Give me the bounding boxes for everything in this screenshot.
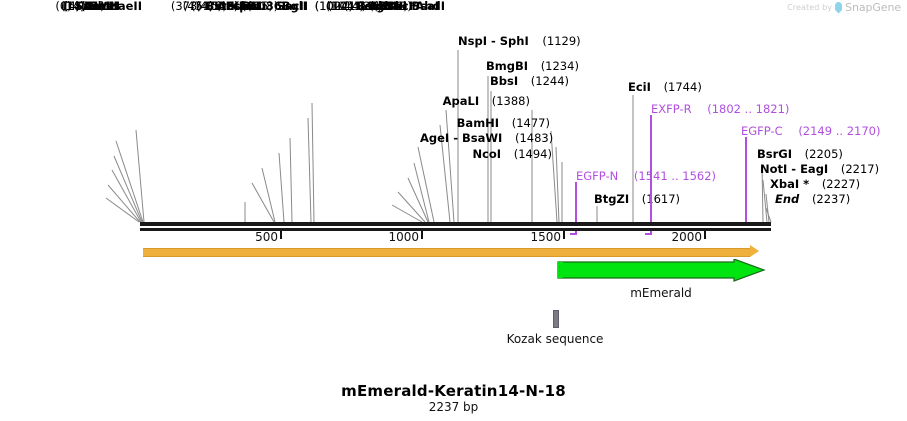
primer-name: EGFP-N: [576, 169, 618, 183]
plasmid-length: 2237 bp: [0, 400, 907, 414]
site-position: (2217): [841, 162, 879, 176]
ruler-tick-2000: [704, 231, 706, 239]
site-label-agei-bsawi[interactable]: AgeI - BsaWI (1483): [420, 132, 550, 144]
site-label-btgzi[interactable]: BtgZI (1617): [594, 193, 680, 205]
site-position: (2237): [812, 192, 850, 206]
site-position: (21): [81, 0, 105, 13]
ruler-label-2000: 2000: [646, 230, 702, 244]
primer-bracket-egfp-c[interactable]: [745, 137, 756, 229]
site-name: AhdI: [415, 0, 445, 13]
site-label-ecii[interactable]: EciI (1744): [628, 81, 702, 93]
site-name: XbaI *: [770, 177, 809, 191]
primer-name: EXFP-R: [651, 102, 692, 116]
feature-label-memerald: mEmerald: [556, 286, 766, 300]
primer-label-egfp-c[interactable]: EGFP-C (2149 .. 2170): [741, 125, 880, 137]
site-position: (1617): [642, 192, 680, 206]
site-label-bmgbi[interactable]: BmgBI (1234): [486, 60, 579, 72]
ruler-label-1000: 1000: [363, 230, 419, 244]
site-position: (2227): [822, 177, 860, 191]
primer-label-egfp-n[interactable]: EGFP-N (1541 .. 1562): [576, 170, 716, 182]
site-position: (1129): [542, 34, 580, 48]
site-label-ncoi[interactable]: NcoI (1494): [440, 148, 552, 160]
primer-foot-egfp-n: [570, 233, 577, 235]
site-position: (1744): [664, 80, 702, 94]
site-name: ApaLI: [443, 94, 480, 108]
primer-range: (1541 .. 1562): [634, 169, 716, 183]
site-label-apali[interactable]: ApaLI (1388): [400, 95, 530, 107]
site-name: End: [775, 192, 799, 206]
plasmid-title: mEmerald-Keratin14-N-18: [0, 382, 907, 400]
site-label-nspi-sphi[interactable]: NspI - SphI (1129): [458, 35, 581, 47]
site-name: EciI: [628, 80, 651, 94]
primer-range: (2149 .. 2170): [798, 124, 880, 138]
feature-mark-kozak[interactable]: [553, 310, 559, 328]
site-position: (1234): [541, 59, 579, 73]
site-name: BtgZI: [594, 192, 629, 206]
primer-label-exfp-r[interactable]: EXFP-R (1802 .. 1821): [651, 103, 789, 115]
orf-orange-line[interactable]: [143, 248, 750, 257]
primer-name: EGFP-C: [741, 124, 783, 138]
site-name: AgeI - BsaWI: [420, 131, 502, 145]
site-label-bamhi[interactable]: BamHI (1477): [440, 117, 550, 129]
site-label-bbsi[interactable]: BbsI (1244): [490, 75, 569, 87]
leader-lines: [0, 0, 907, 421]
site-label-end[interactable]: End (2237): [775, 193, 850, 205]
ruler-tick-500: [280, 231, 282, 239]
site-label-ahdi[interactable]: (1113) AhdI: [270, 0, 445, 12]
ruler-label-500: 500: [230, 230, 278, 244]
site-position: (2205): [805, 147, 843, 161]
site-position: (1388): [492, 94, 530, 108]
site-name: NotI - EagI: [760, 162, 828, 176]
site-label-bsrgi[interactable]: BsrGI (2205): [757, 148, 843, 160]
site-position: (1113): [373, 0, 411, 13]
site-position: (1244): [531, 74, 569, 88]
site-name: NspI - SphI: [458, 34, 529, 48]
site-position: (1483): [515, 131, 553, 145]
site-position: (1494): [514, 147, 552, 161]
site-label-xbai[interactable]: XbaI * (2227): [770, 178, 860, 190]
site-position: (1477): [512, 116, 550, 130]
ruler-label-1500: 1500: [505, 230, 561, 244]
site-name: BamHI: [457, 116, 499, 130]
primer-range: (1802 .. 1821): [707, 102, 789, 116]
feature-arrow-memerald[interactable]: [556, 259, 766, 283]
feature-label-kozak: Kozak sequence: [455, 332, 655, 346]
site-name: BbsI: [490, 74, 518, 88]
orf-arrowhead-icon: [750, 245, 759, 257]
ruler-tick-1000: [421, 231, 423, 239]
site-name: BmgBI: [486, 59, 528, 73]
snapgene-linear-map: Created by SnapGene: [0, 0, 907, 421]
ruler-tick-1500: [563, 231, 565, 239]
primer-mark-exfp-r[interactable]: [650, 115, 652, 234]
site-name: NcoI: [472, 147, 501, 161]
site-name: BsrGI: [757, 147, 792, 161]
site-label-noti-eagi[interactable]: NotI - EagI (2217): [760, 163, 879, 175]
